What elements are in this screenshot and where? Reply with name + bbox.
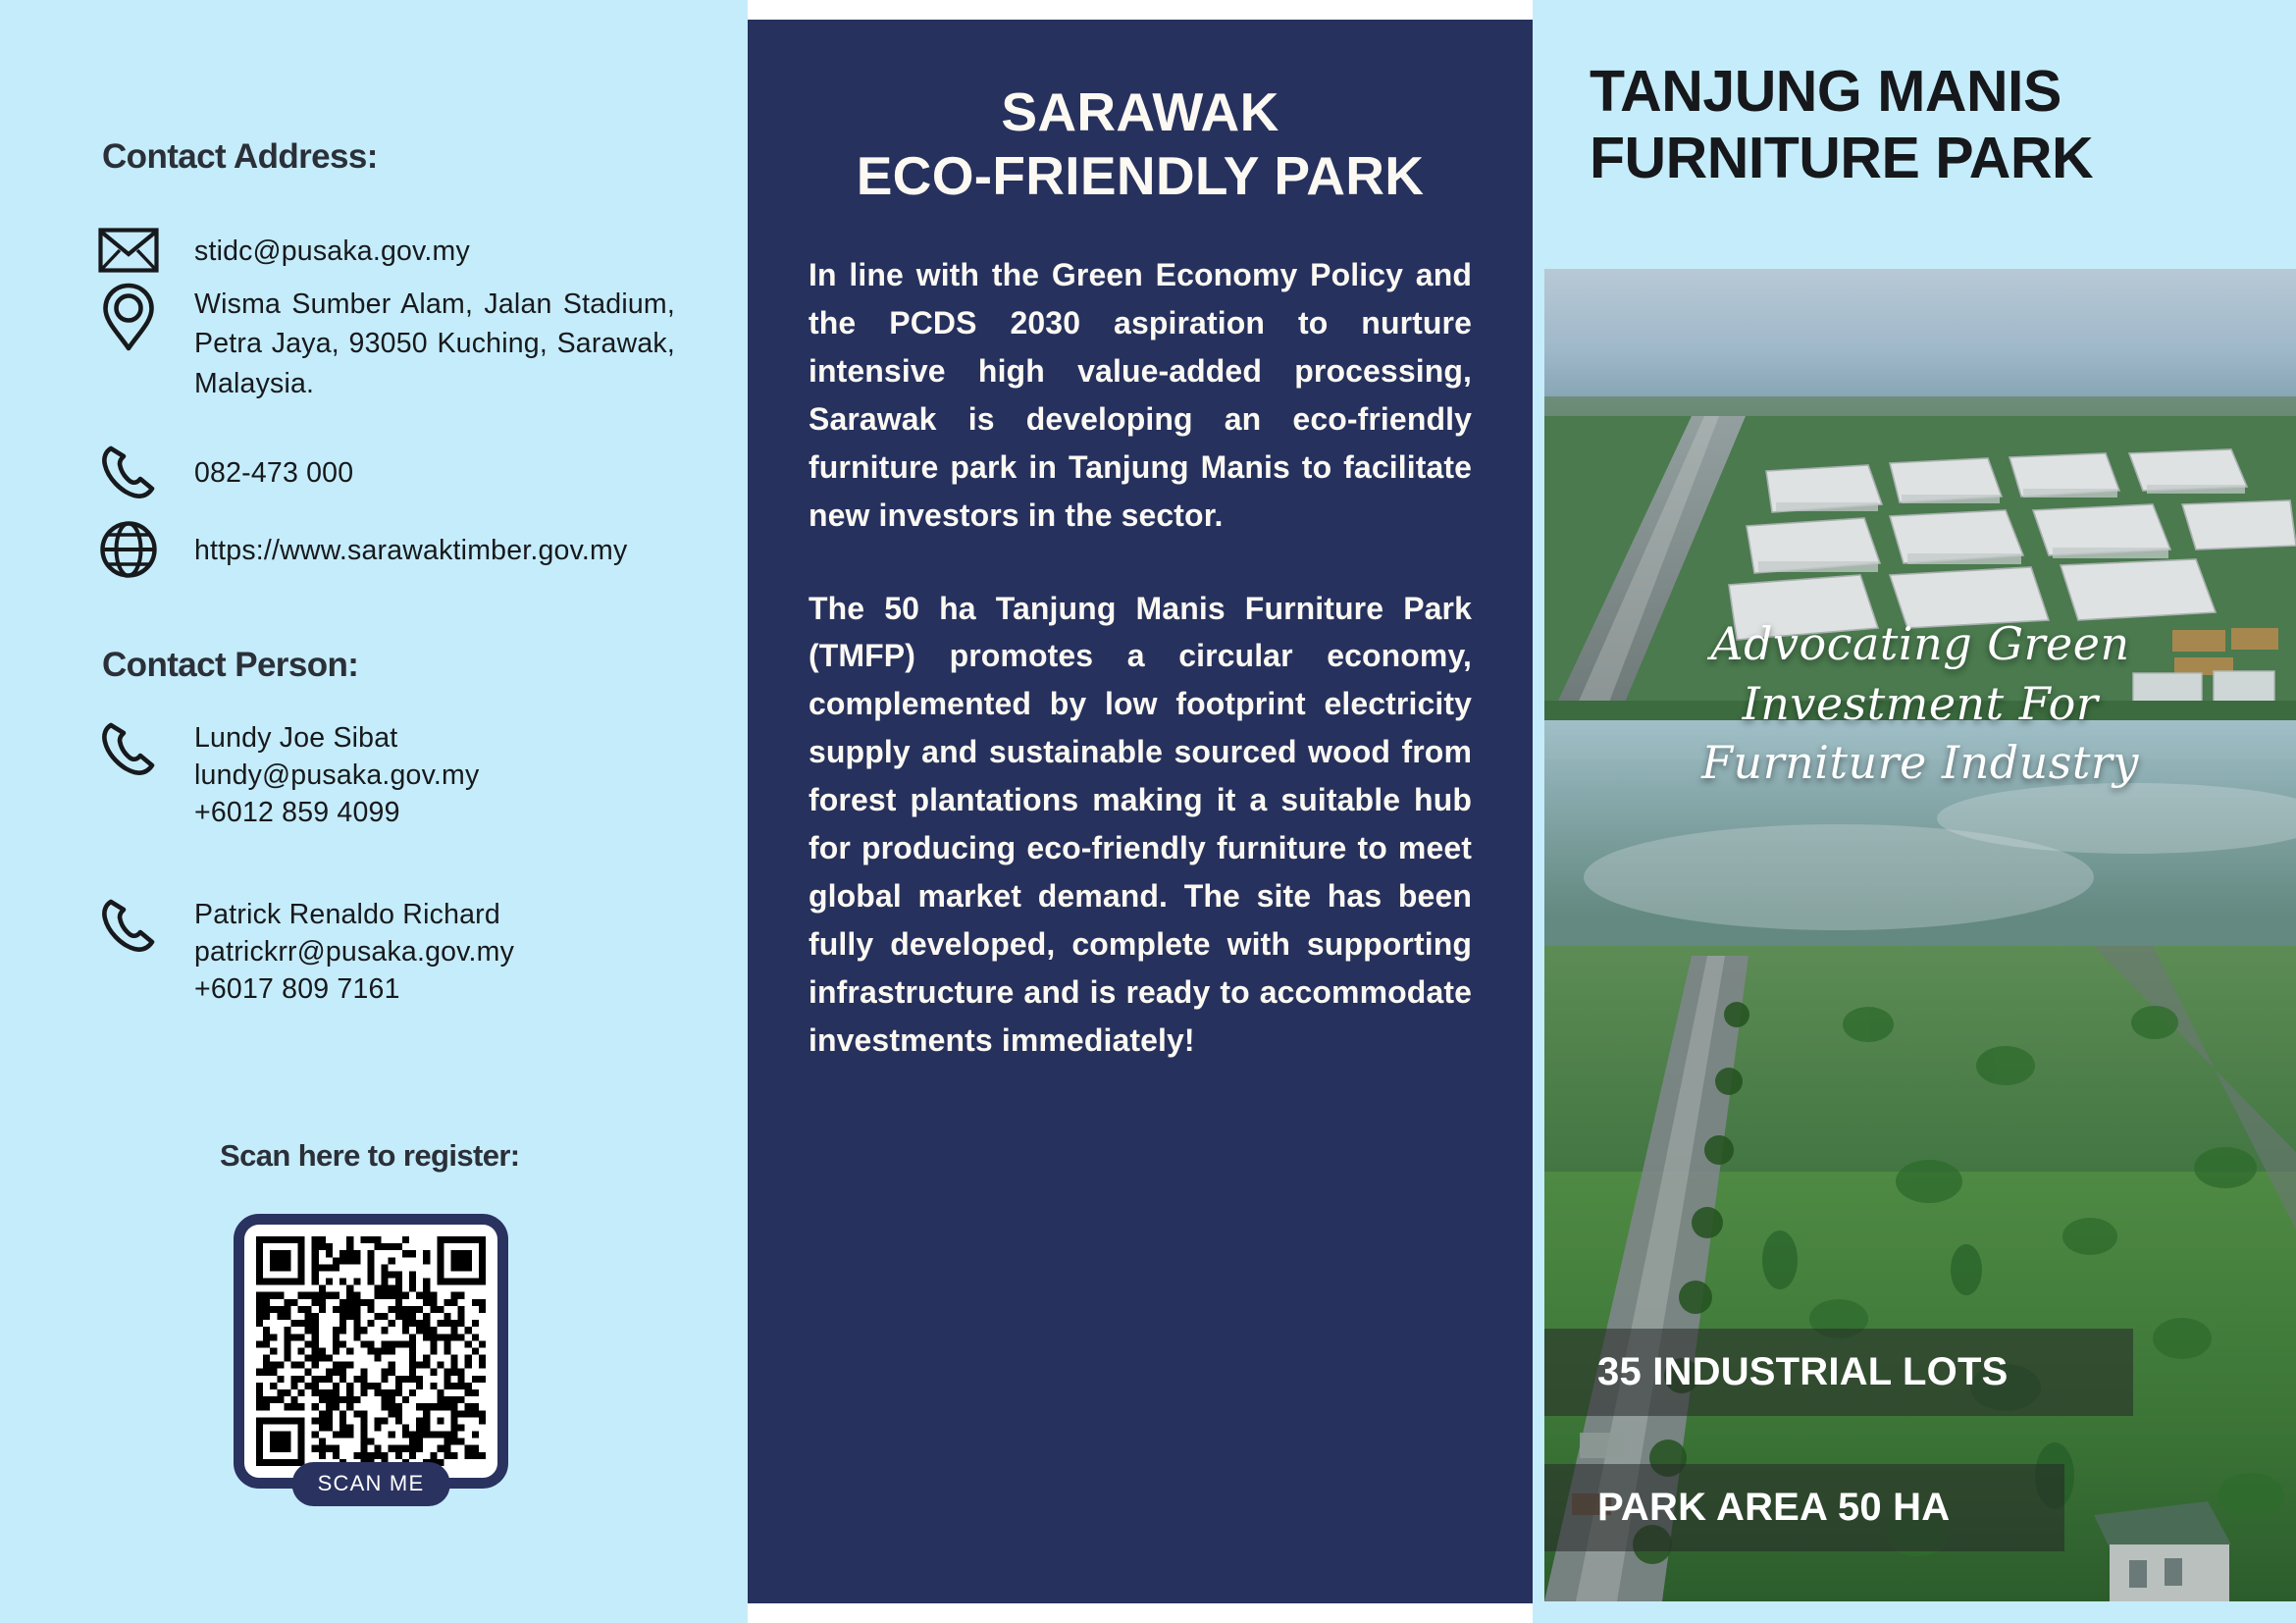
envelope-icon [96, 218, 161, 283]
contact-website-row[interactable]: https://www.sarawaktimber.gov.my [96, 517, 675, 582]
description-paragraph-2: The 50 ha Tanjung Manis Furniture Park (… [809, 585, 1472, 1066]
contact-website-value: https://www.sarawaktimber.gov.my [194, 517, 675, 570]
status-badge-park-area: PARK AREA 50 HA [1544, 1464, 2064, 1551]
description-paragraph-1: In line with the Green Economy Policy an… [809, 251, 1472, 540]
contact-phone-row[interactable]: 082-473 000 [96, 440, 675, 504]
scan-here-heading: Scan here to register: [220, 1138, 520, 1174]
cover-title-line-2: FURNITURE PARK [1590, 126, 2093, 190]
contact-address-row: Wisma Sumber Alam, Jalan Stadium, Petra … [96, 285, 675, 403]
contact-panel: Contact Address: stidc@pusaka.gov.my Wis… [0, 0, 748, 1623]
contact-person-mobile: +6017 809 7161 [194, 973, 400, 1005]
globe-icon [96, 517, 161, 582]
qr-code-image [256, 1236, 486, 1466]
cover-panel: TANJUNG MANIS FURNITURE PARK [1533, 0, 2296, 1623]
contact-email-row[interactable]: stidc@pusaka.gov.my [96, 218, 675, 283]
page-title: SARAWAK ECO-FRIENDLY PARK [809, 80, 1472, 208]
cover-title: TANJUNG MANIS FURNITURE PARK [1533, 0, 2296, 192]
script-tagline: Advocating Green Investment For Furnitur… [1544, 614, 2296, 793]
page-title-line-1: SARAWAK [1001, 81, 1278, 142]
contact-person-heading: Contact Person: [102, 646, 358, 685]
description-panel: SARAWAK ECO-FRIENDLY PARK In line with t… [748, 0, 1533, 1623]
location-pin-icon [96, 285, 161, 349]
qr-code-frame [234, 1214, 508, 1489]
cover-title-line-1: TANJUNG MANIS [1590, 59, 2061, 124]
contact-person-name: Lundy Joe Sibat [194, 722, 397, 754]
contact-person-email: lundy@pusaka.gov.my [194, 759, 479, 791]
phone-icon [96, 716, 161, 781]
phone-icon [96, 893, 161, 958]
contact-person-name: Patrick Renaldo Richard [194, 899, 500, 930]
status-badge-industrial-lots: 35 INDUSTRIAL LOTS [1544, 1329, 2133, 1416]
contact-person-email: patrickrr@pusaka.gov.my [194, 936, 514, 968]
contact-email-value: stidc@pusaka.gov.my [194, 218, 675, 271]
description-card: SARAWAK ECO-FRIENDLY PARK In line with t… [748, 20, 1533, 1603]
page-title-line-2: ECO-FRIENDLY PARK [857, 145, 1425, 206]
brochure-page: Contact Address: stidc@pusaka.gov.my Wis… [0, 0, 2296, 1623]
contact-person-row[interactable]: Lundy Joe Sibat lundy@pusaka.gov.my +601… [96, 716, 675, 832]
qr-code-block[interactable]: SCAN ME [234, 1214, 508, 1489]
phone-icon [96, 440, 161, 504]
contact-phone-value: 082-473 000 [194, 440, 675, 493]
contact-address-value: Wisma Sumber Alam, Jalan Stadium, Petra … [194, 285, 675, 403]
script-tagline-line-2: Furniture Industry [1701, 736, 2139, 789]
script-tagline-line-1: Advocating Green Investment For [1710, 617, 2129, 730]
scan-me-badge: SCAN ME [292, 1462, 450, 1506]
contact-address-heading: Contact Address: [102, 137, 378, 177]
aerial-photo: Advocating Green Investment For Furnitur… [1544, 269, 2296, 1601]
contact-person-mobile: +6012 859 4099 [194, 797, 400, 828]
contact-person-details: Lundy Joe Sibat lundy@pusaka.gov.my +601… [194, 716, 675, 832]
contact-person-row[interactable]: Patrick Renaldo Richard patrickrr@pusaka… [96, 893, 675, 1009]
contact-person-details: Patrick Renaldo Richard patrickrr@pusaka… [194, 893, 675, 1009]
